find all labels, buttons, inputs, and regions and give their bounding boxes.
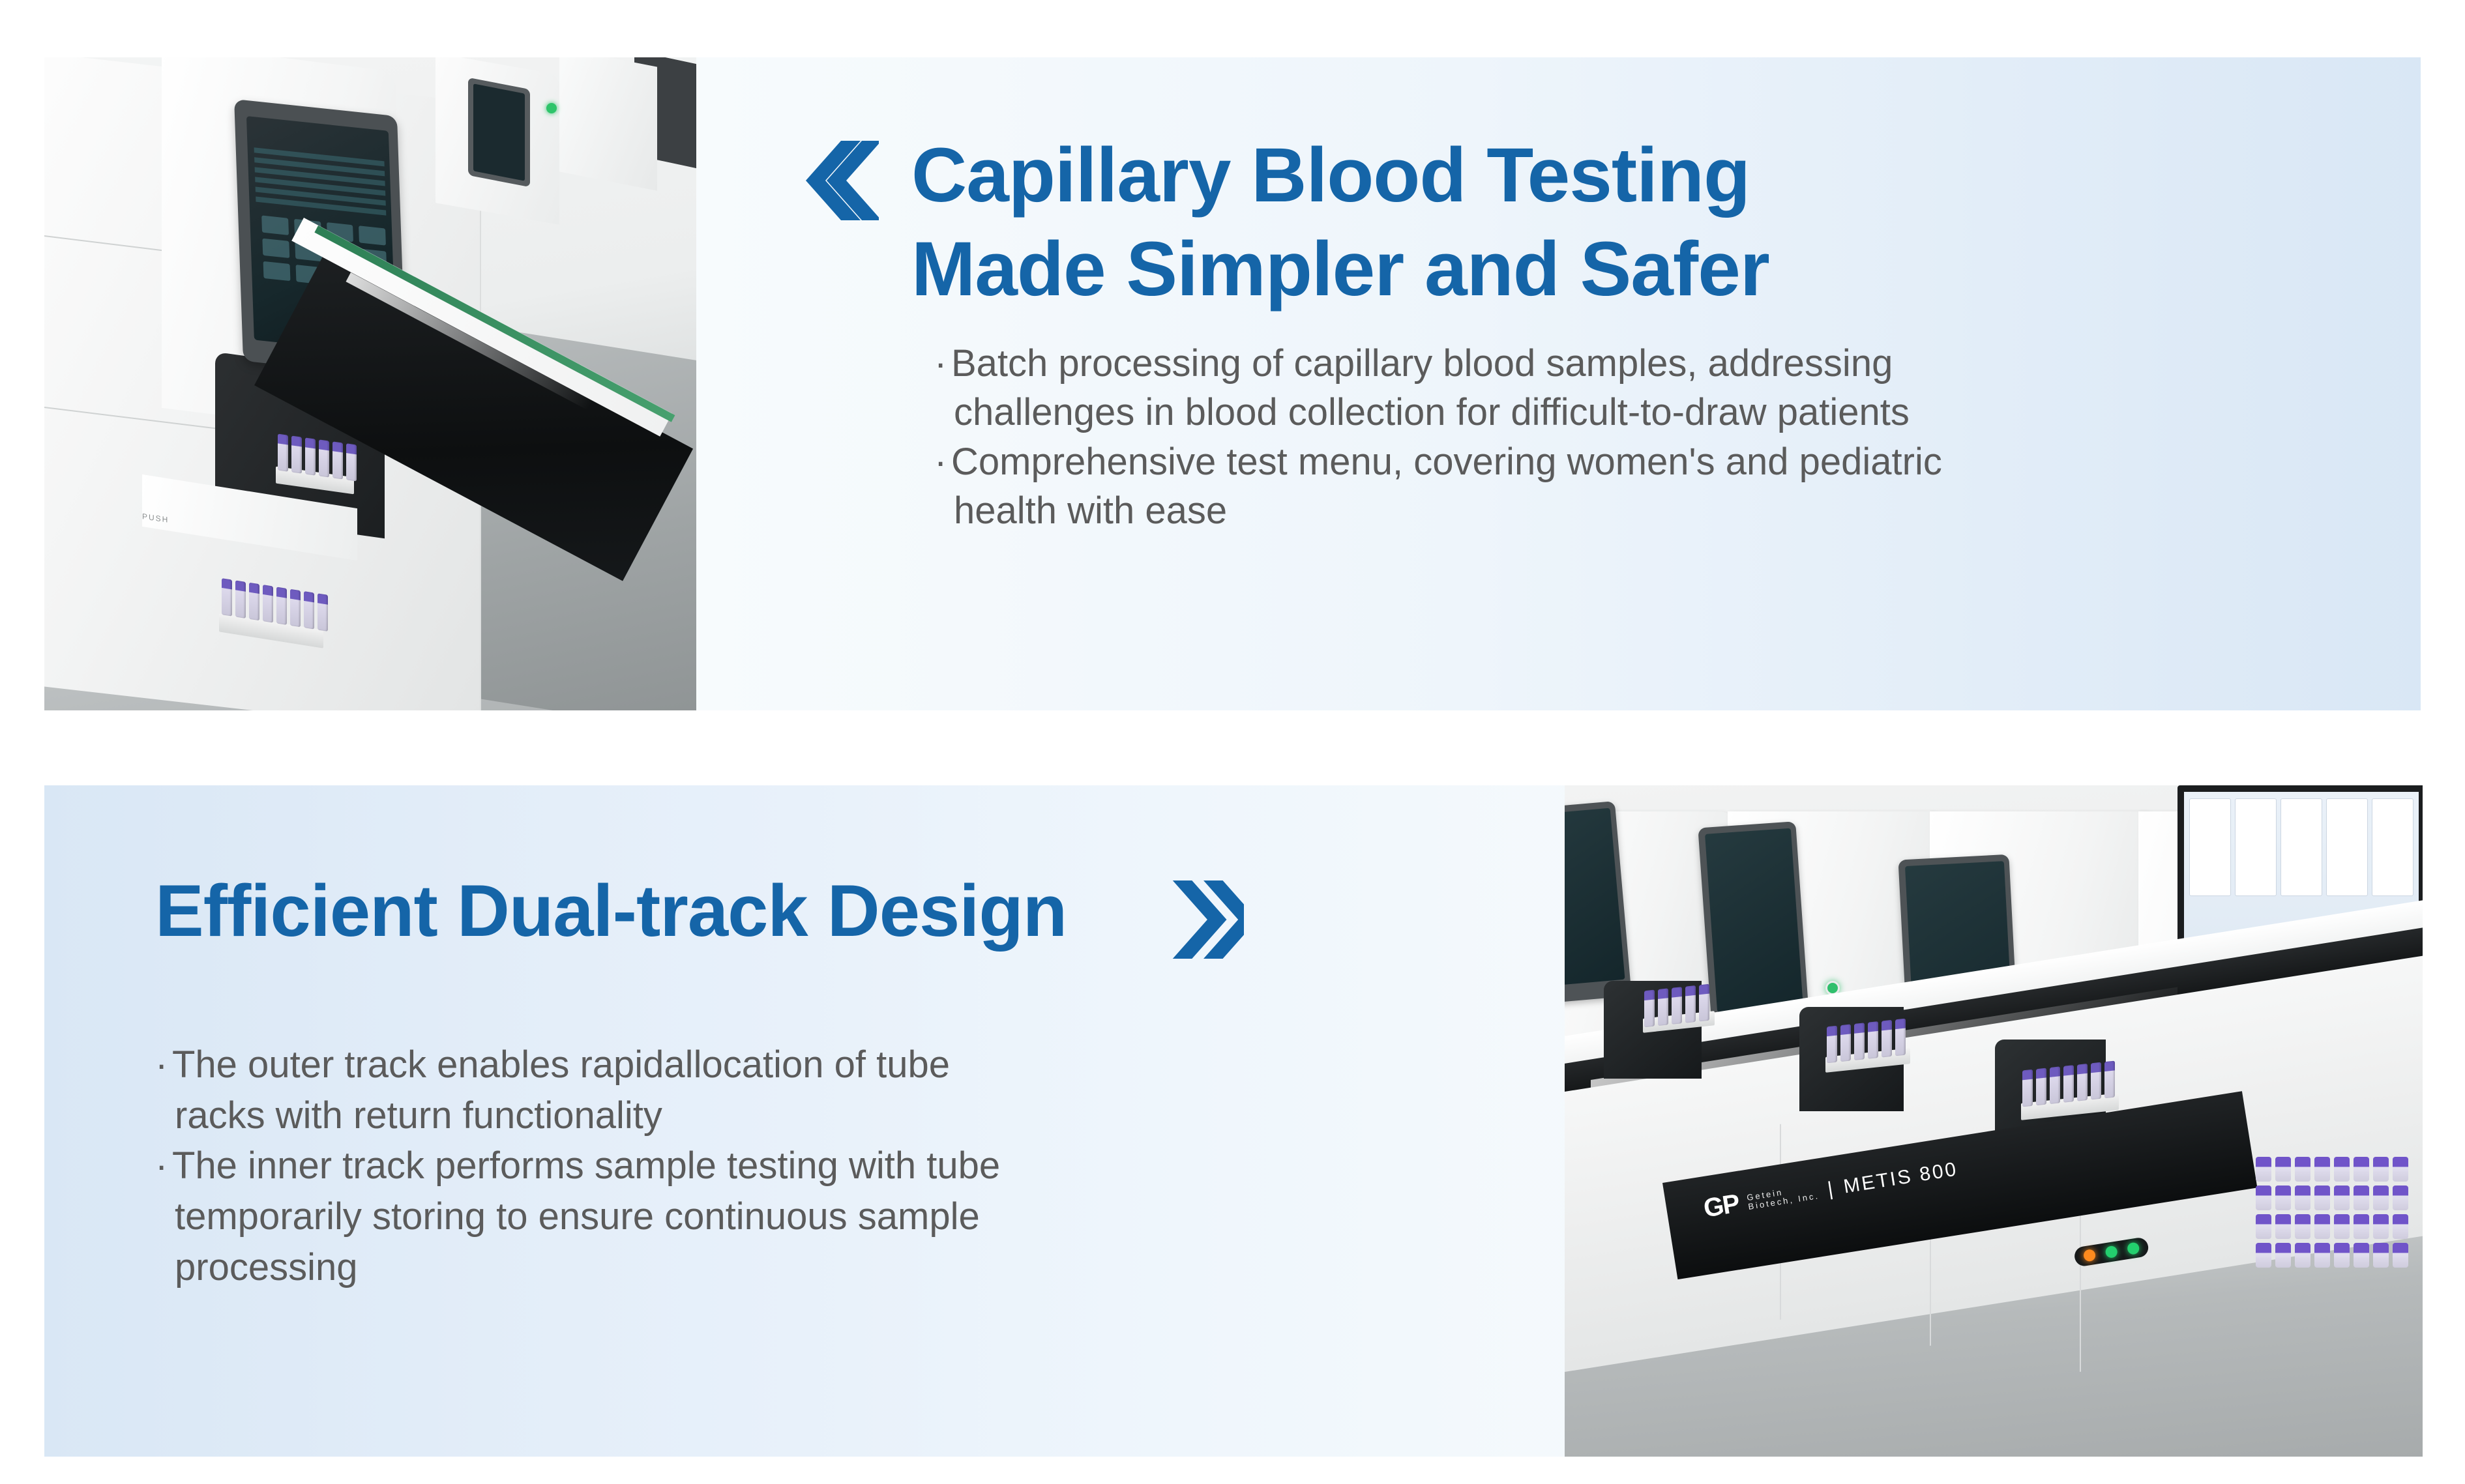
panel2-title: Efficient Dual-track Design xyxy=(155,870,1067,952)
list-item: ·Batch processing of capillary blood sam… xyxy=(934,339,2355,437)
bullet-text-line: temporarily storing to ensure continuous… xyxy=(155,1191,1511,1242)
panel-efficient-dual-track-design: Efficient Dual-track Design ·The outer t… xyxy=(44,785,2423,1457)
tube-rack-large xyxy=(2256,1157,2423,1294)
bullet-text-line: challenges in blood collection for diffi… xyxy=(934,388,2355,437)
bullet-text-line: The outer track enables rapidallocation … xyxy=(172,1043,950,1086)
list-item: ·The outer track enables rapidallocation… xyxy=(155,1040,1511,1141)
bullet-marker: · xyxy=(155,1040,172,1090)
status-led-orange-icon xyxy=(2083,1249,2097,1262)
power-indicator-icon xyxy=(546,103,557,113)
status-led-return-icon xyxy=(2127,1242,2140,1255)
tube-rack xyxy=(1644,984,1709,1028)
bullet-text-line: processing xyxy=(155,1242,1511,1293)
panel2-bullet-list: ·The outer track enables rapidallocation… xyxy=(155,1040,1511,1293)
list-item: ·The inner track performs sample testing… xyxy=(155,1141,1511,1292)
bullet-text-line: Comprehensive test menu, covering women'… xyxy=(951,441,1942,483)
slide-canvas: PUSH Capillary Blood Testing Made Simple… xyxy=(0,0,2465,1484)
status-led-green-icon xyxy=(2104,1245,2118,1259)
bullet-marker: · xyxy=(934,437,951,486)
bullet-text-line: Batch processing of capillary blood samp… xyxy=(951,342,1893,385)
brand-mark: GP xyxy=(1702,1189,1741,1224)
panel1-title: Capillary Blood Testing Made Simpler and… xyxy=(911,129,1769,317)
brand-divider: | xyxy=(1826,1178,1837,1200)
bullet-text-line: racks with return functionality xyxy=(155,1090,1511,1141)
list-item: ·Comprehensive test menu, covering women… xyxy=(934,437,2355,536)
bullet-text-line: The inner track performs sample testing … xyxy=(172,1144,1000,1187)
panel1-photo: PUSH xyxy=(44,57,696,710)
double-chevron-right-icon xyxy=(1166,878,1244,961)
bullet-text-line: health with ease xyxy=(934,486,2355,535)
panel1-bullet-list: ·Batch processing of capillary blood sam… xyxy=(934,339,2355,536)
panel1-text-column: Capillary Blood Testing Made Simpler and… xyxy=(801,57,2365,710)
bullet-marker: · xyxy=(155,1141,172,1191)
bullet-marker: · xyxy=(934,339,951,388)
panel-capillary-blood-testing: PUSH Capillary Blood Testing Made Simple… xyxy=(44,57,2421,710)
double-chevron-left-icon xyxy=(801,138,879,223)
panel2-photo: AOC xyxy=(1565,785,2423,1457)
